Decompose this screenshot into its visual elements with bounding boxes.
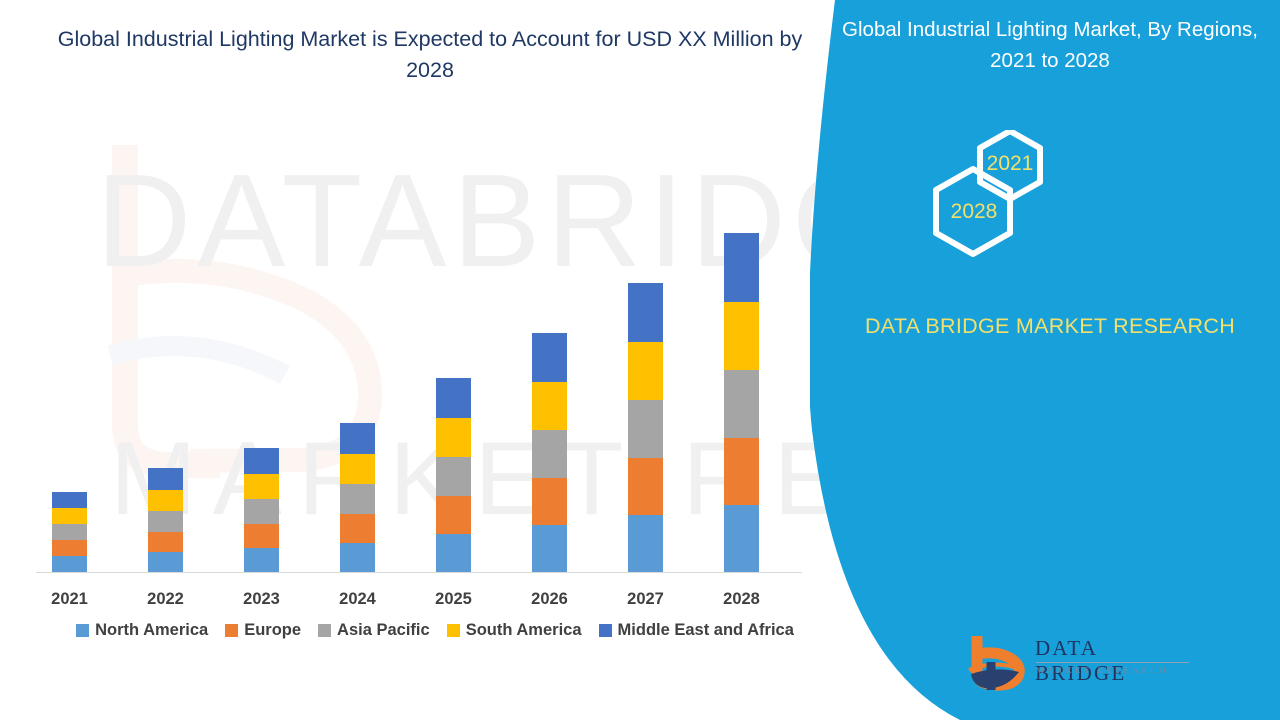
x-label-2028: 2028 bbox=[707, 590, 777, 609]
x-label-2025: 2025 bbox=[419, 590, 489, 609]
legend-swatch-icon bbox=[447, 624, 460, 637]
bar-segment-south-america[interactable] bbox=[436, 418, 471, 457]
legend-swatch-icon bbox=[318, 624, 331, 637]
x-axis-labels: 20212022202320242025202620272028 bbox=[0, 590, 820, 614]
bar-segment-middle-east-and-africa[interactable] bbox=[148, 468, 183, 490]
bar-segment-north-america[interactable] bbox=[340, 543, 375, 572]
bar-segment-middle-east-and-africa[interactable] bbox=[724, 233, 759, 302]
x-label-2021: 2021 bbox=[35, 590, 105, 609]
bar-segment-middle-east-and-africa[interactable] bbox=[436, 378, 471, 418]
bar-segment-north-america[interactable] bbox=[52, 556, 87, 572]
legend-label: North America bbox=[95, 621, 208, 640]
infographic-canvas: DATABRIDGE MARKET RESEARCH Global Indust… bbox=[0, 0, 1280, 720]
bar-segment-middle-east-and-africa[interactable] bbox=[244, 448, 279, 474]
bar-segment-europe[interactable] bbox=[148, 532, 183, 552]
x-label-2027: 2027 bbox=[611, 590, 681, 609]
bar-segment-europe[interactable] bbox=[340, 514, 375, 543]
logo-secondary-text: MARKET RESEARCH bbox=[1036, 665, 1169, 675]
bar-2027[interactable] bbox=[628, 283, 663, 572]
bar-segment-south-america[interactable] bbox=[724, 302, 759, 370]
bar-segment-asia-pacific[interactable] bbox=[340, 484, 375, 514]
legend-label: Europe bbox=[244, 621, 301, 640]
logo-primary-text: DATA BRIDGE bbox=[1035, 636, 1195, 686]
bar-segment-north-america[interactable] bbox=[724, 505, 759, 572]
bar-2028[interactable] bbox=[724, 233, 759, 572]
chart-region: Global Industrial Lighting Market is Exp… bbox=[0, 0, 860, 720]
bar-segment-middle-east-and-africa[interactable] bbox=[52, 492, 87, 508]
bar-segment-north-america[interactable] bbox=[436, 534, 471, 572]
bar-segment-asia-pacific[interactable] bbox=[724, 370, 759, 438]
bar-2025[interactable] bbox=[436, 378, 471, 572]
x-label-2024: 2024 bbox=[323, 590, 393, 609]
bar-segment-north-america[interactable] bbox=[628, 515, 663, 572]
bar-segment-europe[interactable] bbox=[244, 524, 279, 548]
bar-segment-europe[interactable] bbox=[532, 478, 567, 525]
x-axis-line bbox=[36, 572, 802, 573]
legend-label: Asia Pacific bbox=[337, 621, 430, 640]
bar-segment-europe[interactable] bbox=[628, 458, 663, 515]
legend-item-middle-east-and-africa[interactable]: Middle East and Africa bbox=[599, 621, 794, 640]
legend-swatch-icon bbox=[225, 624, 238, 637]
bar-2023[interactable] bbox=[244, 448, 279, 572]
logo-divider bbox=[1036, 662, 1189, 663]
bar-segment-south-america[interactable] bbox=[52, 508, 87, 524]
bar-segment-asia-pacific[interactable] bbox=[532, 430, 567, 478]
x-label-2022: 2022 bbox=[131, 590, 201, 609]
company-logo: DATA BRIDGE MARKET RESEARCH bbox=[965, 632, 1195, 694]
bar-segment-south-america[interactable] bbox=[628, 342, 663, 400]
bar-segment-asia-pacific[interactable] bbox=[52, 524, 87, 540]
bar-2026[interactable] bbox=[532, 333, 567, 572]
bar-segment-north-america[interactable] bbox=[148, 552, 183, 572]
bar-segment-south-america[interactable] bbox=[340, 454, 375, 484]
x-label-2026: 2026 bbox=[515, 590, 585, 609]
plot-area bbox=[0, 0, 860, 600]
hex-label-2021: 2021 bbox=[980, 152, 1040, 176]
bar-segment-europe[interactable] bbox=[436, 496, 471, 534]
legend-swatch-icon bbox=[599, 624, 612, 637]
brand-name: DATA BRIDGE MARKET RESEARCH bbox=[830, 310, 1270, 343]
bar-segment-south-america[interactable] bbox=[244, 474, 279, 499]
bar-segment-north-america[interactable] bbox=[244, 548, 279, 572]
hex-label-2028: 2028 bbox=[938, 200, 1010, 224]
bar-2024[interactable] bbox=[340, 423, 375, 572]
bar-segment-europe[interactable] bbox=[52, 540, 87, 556]
databridge-mark-icon bbox=[965, 632, 1035, 694]
bar-segment-north-america[interactable] bbox=[532, 525, 567, 572]
chart-legend: North AmericaEuropeAsia PacificSouth Ame… bbox=[40, 618, 830, 642]
panel-title: Global Industrial Lighting Market, By Re… bbox=[830, 14, 1270, 76]
legend-item-europe[interactable]: Europe bbox=[225, 621, 301, 640]
legend-label: Middle East and Africa bbox=[618, 621, 794, 640]
legend-label: South America bbox=[466, 621, 582, 640]
bar-segment-middle-east-and-africa[interactable] bbox=[340, 423, 375, 454]
x-label-2023: 2023 bbox=[227, 590, 297, 609]
legend-item-north-america[interactable]: North America bbox=[76, 621, 208, 640]
bar-segment-asia-pacific[interactable] bbox=[628, 400, 663, 458]
side-panel: Global Industrial Lighting Market, By Re… bbox=[810, 0, 1280, 720]
bar-segment-asia-pacific[interactable] bbox=[436, 457, 471, 496]
bar-segment-south-america[interactable] bbox=[532, 382, 567, 430]
bar-segment-asia-pacific[interactable] bbox=[148, 511, 183, 532]
bar-2021[interactable] bbox=[52, 492, 87, 572]
bar-segment-middle-east-and-africa[interactable] bbox=[628, 283, 663, 342]
bar-segment-middle-east-and-africa[interactable] bbox=[532, 333, 567, 382]
bar-segment-south-america[interactable] bbox=[148, 490, 183, 511]
legend-swatch-icon bbox=[76, 624, 89, 637]
legend-item-asia-pacific[interactable]: Asia Pacific bbox=[318, 621, 430, 640]
bar-2022[interactable] bbox=[148, 468, 183, 572]
hexagon-badges: 2028 2021 bbox=[810, 130, 1280, 300]
bar-segment-europe[interactable] bbox=[724, 438, 759, 505]
hexagon-outline-icon bbox=[810, 130, 1280, 300]
legend-item-south-america[interactable]: South America bbox=[447, 621, 582, 640]
bar-segment-asia-pacific[interactable] bbox=[244, 499, 279, 524]
